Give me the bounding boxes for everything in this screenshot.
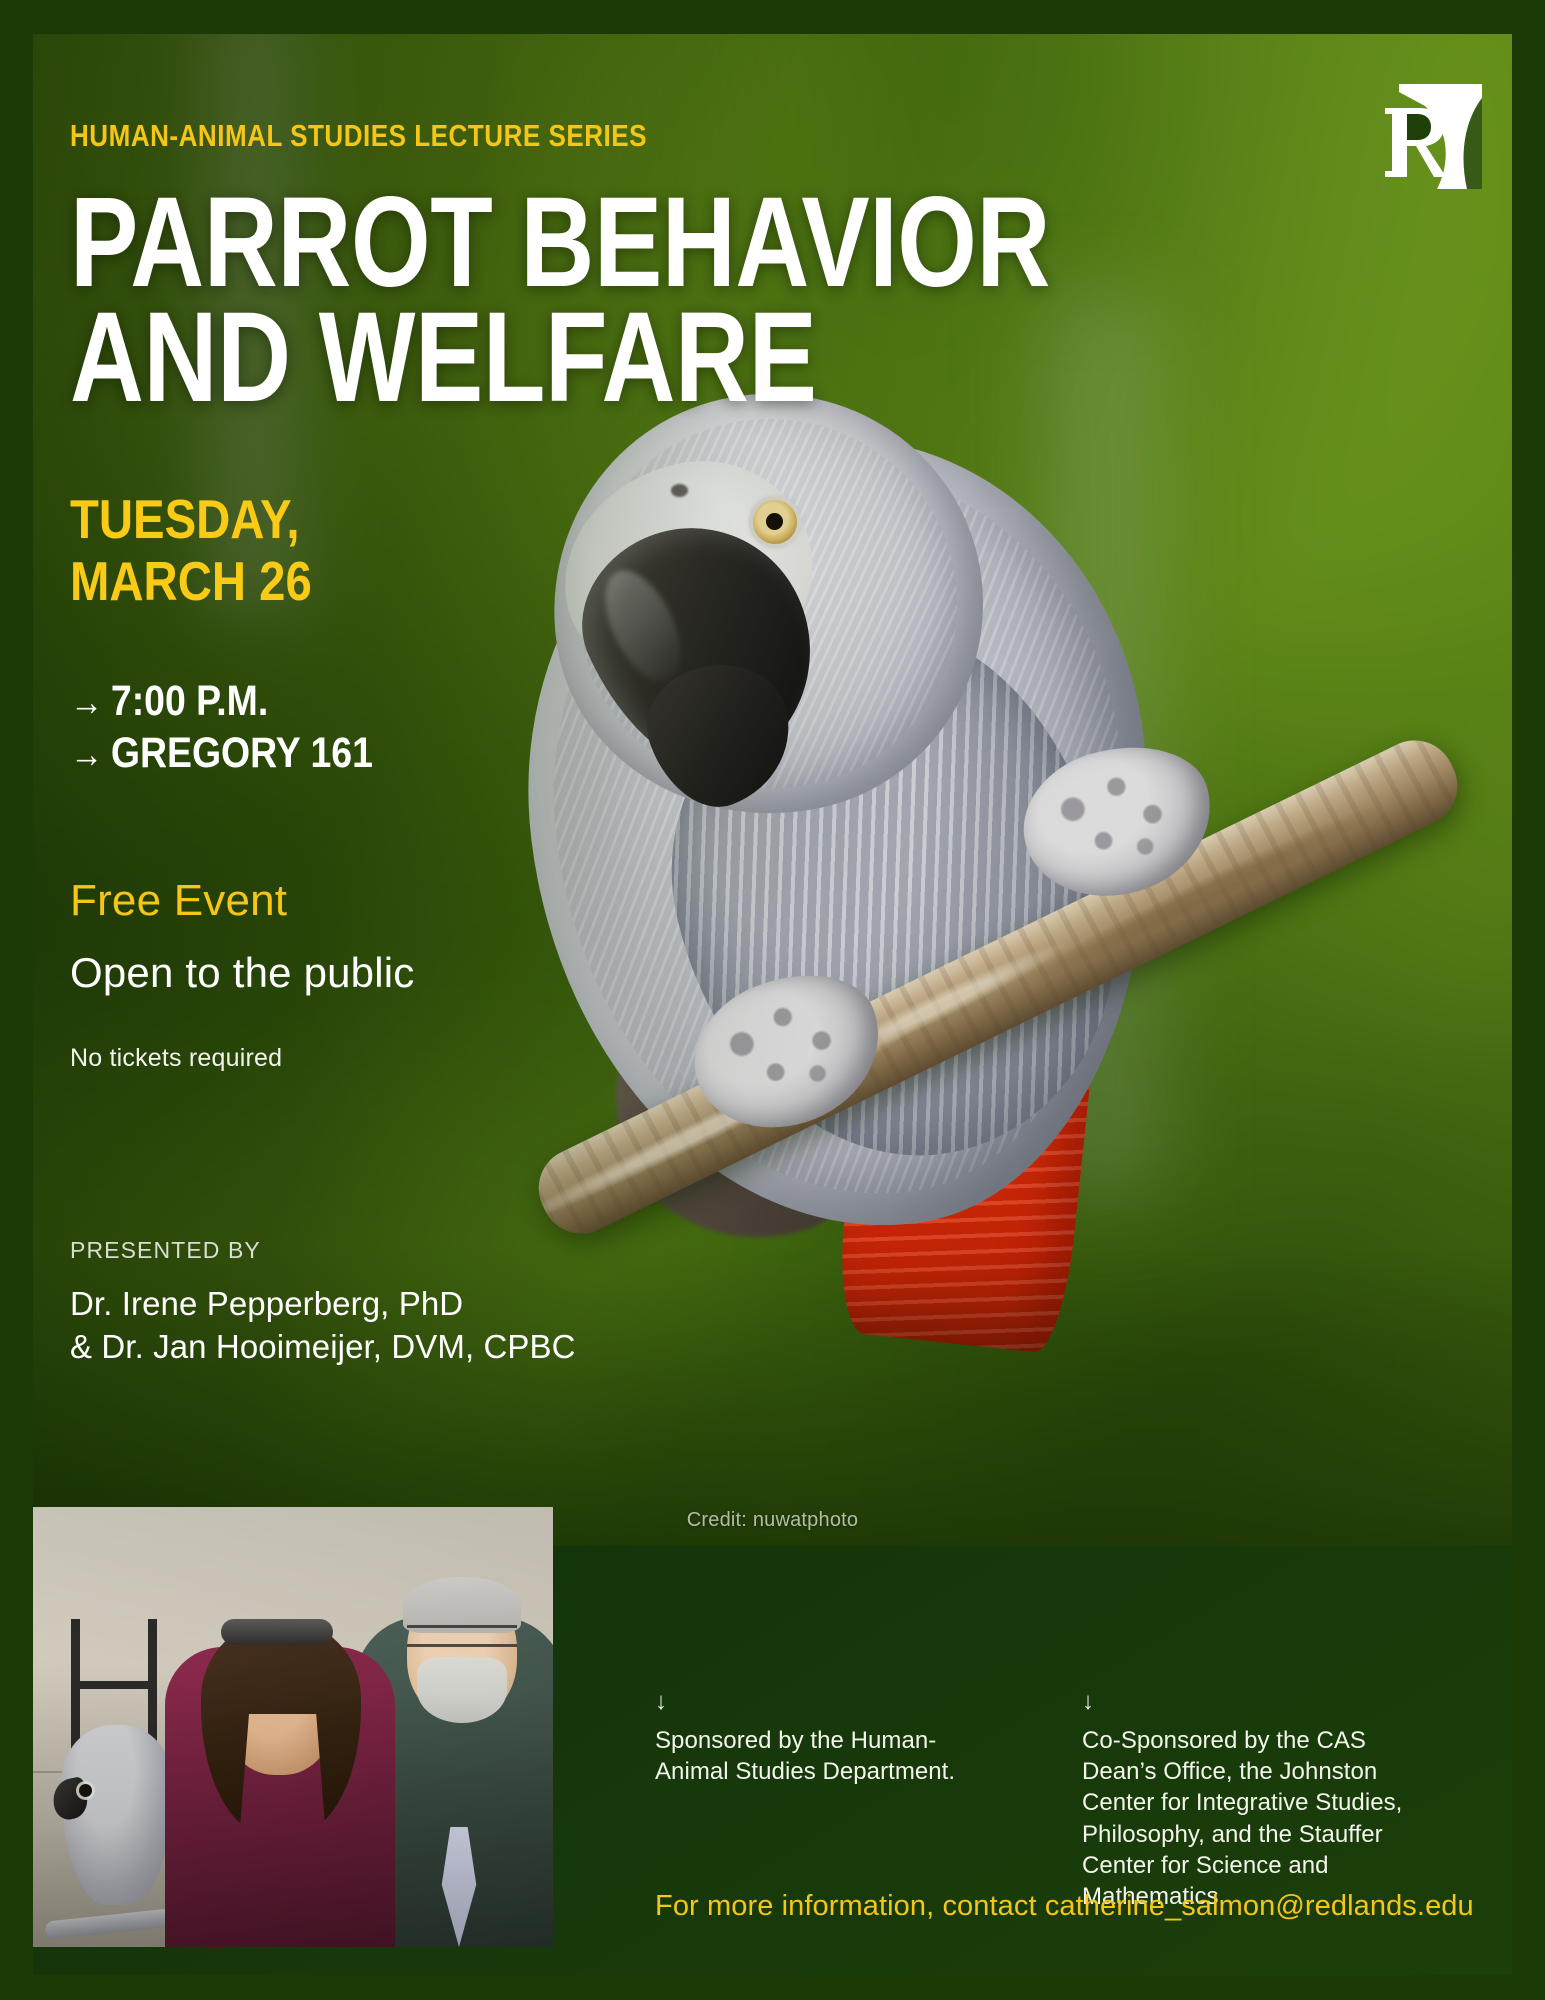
presenter-names: Dr. Irene Pepperberg, PhD & Dr. Jan Hooi…	[70, 1283, 870, 1367]
page-title-line-2: AND WELFARE	[70, 300, 710, 415]
poster-frame-top	[0, 0, 1545, 34]
event-poster: Credit: nuwatphoto HUMAN-ANIMAL STUDIES …	[0, 0, 1545, 2000]
poster-frame-left	[0, 0, 33, 2000]
contact-info: For more information, contact catherine_…	[655, 1892, 1474, 1921]
poster-frame-right	[1512, 0, 1545, 2000]
sponsor-text: Sponsored by the Human-Animal Studies De…	[655, 1725, 1000, 1787]
page-title: PARROT BEHAVIOR AND WELFARE	[70, 185, 710, 415]
free-event-label: Free Event	[70, 879, 870, 923]
arrow-down-icon: ↓	[1082, 1690, 1427, 1714]
co-sponsor-text: Co-Sponsored by the CAS Dean’s Office, t…	[1082, 1725, 1427, 1912]
sponsor-columns: ↓ Sponsored by the Human-Animal Studies …	[655, 1690, 1455, 1912]
arrow-right-icon: →	[70, 732, 103, 778]
event-time-row: →7:00 P.M.	[70, 675, 766, 727]
arrow-down-icon: ↓	[655, 1690, 1000, 1714]
inset-photo-shading	[25, 1507, 553, 1947]
sponsor-column-secondary: ↓ Co-Sponsored by the CAS Dean’s Office,…	[1082, 1690, 1427, 1912]
event-date: TUESDAY, MARCH 26	[70, 489, 758, 612]
arrow-right-icon: →	[70, 680, 103, 726]
lecture-series-kicker: HUMAN-ANIMAL STUDIES LECTURE SERIES	[70, 120, 742, 151]
event-details: →7:00 P.M. →GREGORY 161	[70, 675, 766, 780]
event-location: GREGORY 161	[111, 729, 373, 777]
presenter-line-1: Dr. Irene Pepperberg, PhD	[70, 1283, 870, 1325]
university-of-redlands-r-logo	[1379, 84, 1482, 189]
poster-frame-bottom	[0, 1975, 1545, 2000]
open-to-public-label: Open to the public	[70, 952, 870, 994]
presenters-photo-inset	[25, 1507, 553, 1947]
poster-copy-column: HUMAN-ANIMAL STUDIES LECTURE SERIES PARR…	[70, 120, 870, 1368]
page-title-line-1: PARROT BEHAVIOR	[70, 185, 710, 300]
event-time: 7:00 P.M.	[111, 677, 268, 725]
presenter-line-2: & Dr. Jan Hooimeijer, DVM, CPBC	[70, 1326, 870, 1368]
event-location-row: →GREGORY 161	[70, 727, 766, 779]
event-date-line-1: TUESDAY,	[70, 489, 758, 551]
no-tickets-label: No tickets required	[70, 1046, 870, 1071]
event-date-line-2: MARCH 26	[70, 551, 758, 613]
presented-by-label: PRESENTED BY	[70, 1239, 870, 1262]
sponsor-column-primary: ↓ Sponsored by the Human-Animal Studies …	[655, 1690, 1000, 1912]
